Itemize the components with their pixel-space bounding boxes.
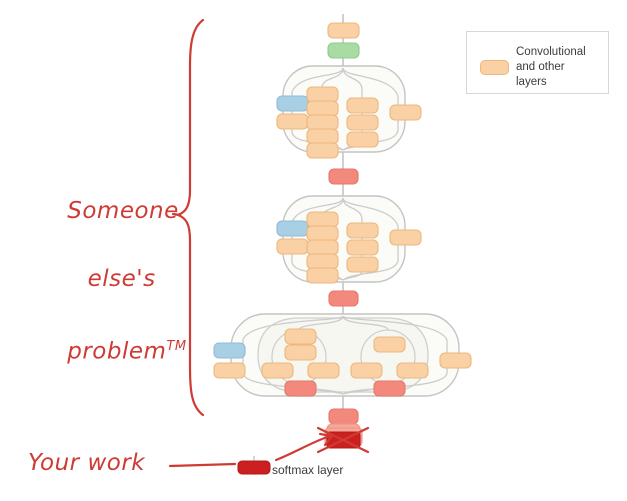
block2-output-layer [329,291,358,306]
block3-output-layer [329,409,358,424]
block1-branch-center-right [347,98,378,147]
block2-branch-center-left [307,212,338,283]
crossed-softmax-layer [318,428,368,452]
softmax-layer-label: softmax layer [272,463,343,477]
brace-label-line-3: problem [67,339,166,365]
block2-branch-center-right [347,223,378,272]
top-conv-layer [328,23,359,38]
legend-label: Convolutional and other layers [516,45,606,90]
top-green-layer [328,43,359,58]
block2-branch-right [390,230,421,245]
brace-label-line-1: Someone [67,198,179,224]
inception-block-1 [277,66,421,184]
inception-block-2 [277,196,421,306]
block1-branch-center-left [307,87,338,158]
softmax-swatch-icon [236,455,272,477]
brace-label-trademark: TM [166,339,186,354]
block1-branch-right [390,105,421,120]
figure-canvas: .edge { stroke:#c4c4c4; stroke-width:1.6… [0,0,627,501]
block1-output-layer [329,169,358,184]
block3-branch-right [440,353,471,368]
brace-label-line-2: else's [88,266,156,292]
conv-layer-swatch-icon [480,60,509,75]
someone-elses-problem-label: Someone else's problemTM [36,160,176,403]
your-work-label: Your work [28,450,145,476]
